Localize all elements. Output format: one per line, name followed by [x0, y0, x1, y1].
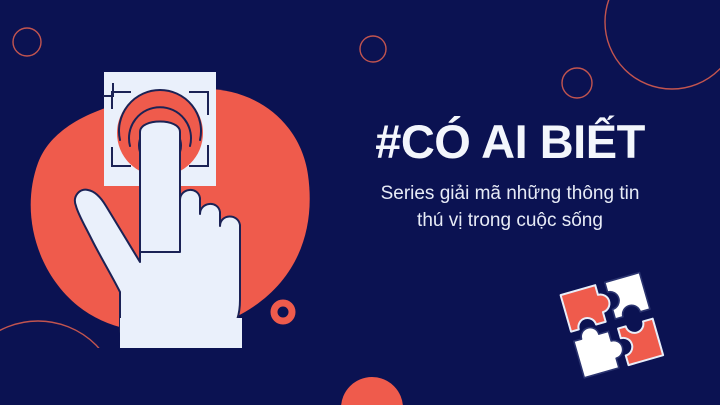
puzzle-piece-bottom-right — [618, 319, 663, 365]
text-block: #CÓ AI BIẾT Series giải mã những thông t… — [310, 118, 710, 235]
subtitle: Series giải mã những thông tin thú vị tr… — [310, 181, 710, 235]
subtitle-line-2: thú vị trong cuộc sống — [310, 208, 710, 235]
puzzle-piece-top-right — [605, 273, 650, 319]
poster-canvas: #CÓ AI BIẾT Series giải mã những thông t… — [0, 0, 720, 405]
puzzle-group — [561, 273, 664, 378]
subtitle-line-1: Series giải mã những thông tin — [310, 181, 710, 208]
page-title: #CÓ AI BIẾT — [310, 118, 710, 167]
